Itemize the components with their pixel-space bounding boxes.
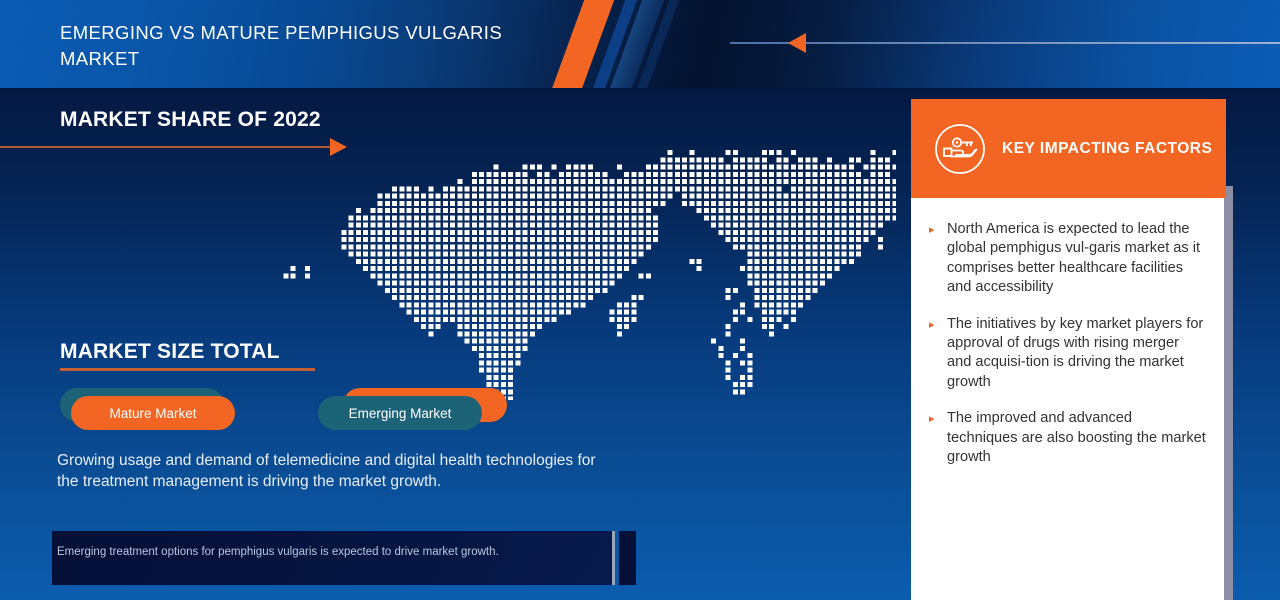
list-item-text: The improved and advanced techniques are… [947, 409, 1206, 467]
market-size-rule [60, 368, 315, 371]
hand-holding-key-icon [934, 123, 986, 175]
market-share-section: MARKET SHARE OF 2022 [0, 108, 360, 160]
bottom-banner-text: Emerging treatment options for pemphigus… [57, 544, 607, 560]
header-arrow-line [730, 42, 1280, 44]
market-size-title: MARKET SIZE TOTAL [60, 338, 480, 366]
body-paragraph: Growing usage and demand of telemedicine… [57, 450, 617, 492]
market-share-title: MARKET SHARE OF 2022 [60, 108, 321, 132]
bullet-triangle-icon: ▸ [929, 220, 947, 236]
market-size-section: MARKET SIZE TOTAL [60, 338, 480, 371]
key-factors-header: KEY IMPACTING FACTORS [911, 99, 1226, 198]
header-bar: EMERGING VS MATURE PEMPHIGUS VULGARIS MA… [0, 0, 1280, 88]
key-factors-list: ▸ North America is expected to lead the … [911, 198, 1224, 600]
list-item-text: The initiatives by key market players fo… [947, 315, 1206, 393]
list-item: ▸ The initiatives by key market players … [929, 315, 1206, 393]
key-factors-title: KEY IMPACTING FACTORS [1002, 140, 1212, 158]
list-item: ▸ North America is expected to lead the … [929, 220, 1206, 298]
list-item-text: North America is expected to lead the gl… [947, 220, 1206, 298]
page-title: EMERGING VS MATURE PEMPHIGUS VULGARIS MA… [60, 20, 580, 72]
market-size-legend: Mature Market Emerging Market [60, 388, 480, 440]
bottom-banner: Emerging treatment options for pemphigus… [52, 531, 612, 585]
market-share-rule [0, 146, 331, 148]
banner-divider-dark [619, 531, 636, 585]
right-arrow-icon [330, 138, 347, 156]
infographic-canvas: EMERGING VS MATURE PEMPHIGUS VULGARIS MA… [0, 0, 1280, 600]
banner-divider-light [612, 531, 615, 585]
bullet-triangle-icon: ▸ [929, 409, 947, 425]
left-arrow-icon [788, 33, 806, 53]
legend-pill-mature[interactable]: Mature Market [71, 396, 235, 430]
list-item: ▸ The improved and advanced techniques a… [929, 409, 1206, 467]
legend-pill-emerging[interactable]: Emerging Market [318, 396, 482, 430]
bullet-triangle-icon: ▸ [929, 315, 947, 331]
panel-shadow-edge [1224, 186, 1233, 600]
